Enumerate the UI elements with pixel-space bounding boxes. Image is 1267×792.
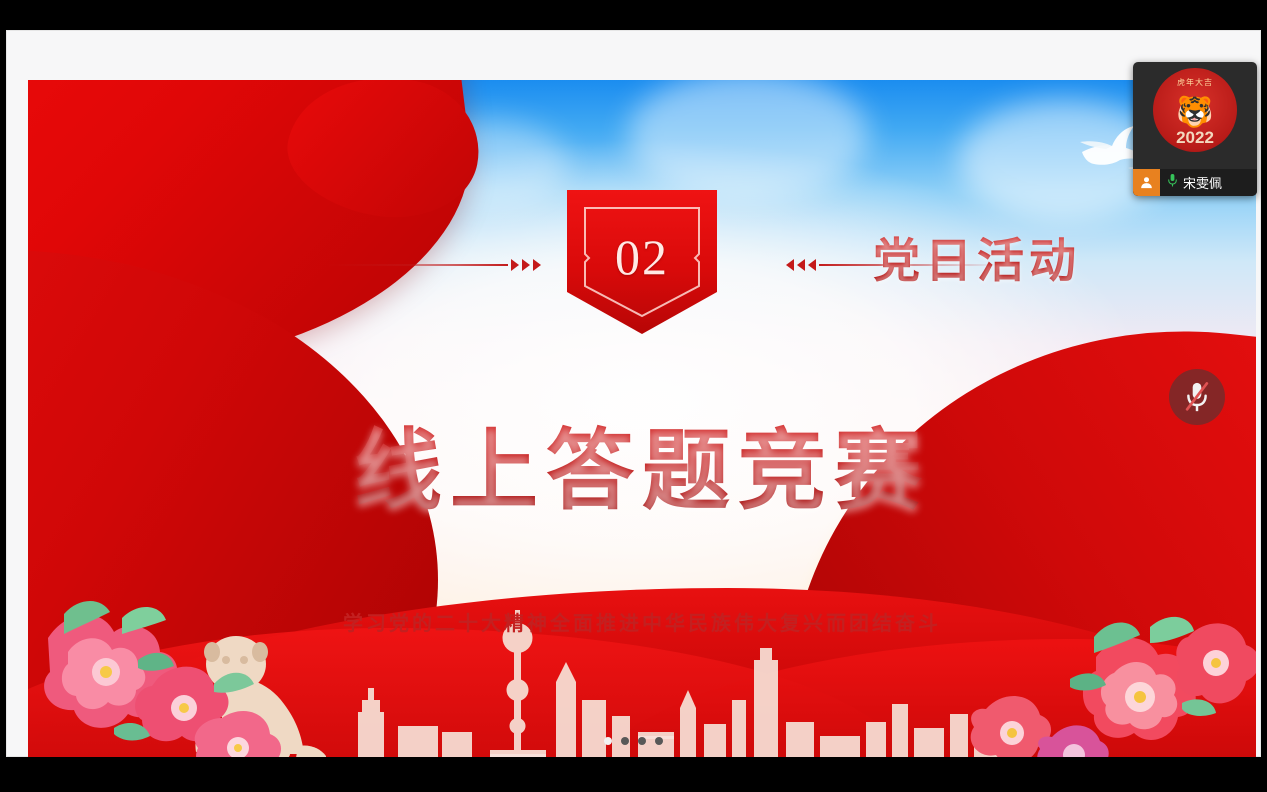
slide-content: 02 党日活动 线上答题竞赛 学习党的二十大精神全面推进中华民族 (28, 80, 1256, 778)
microphone-muted-icon (1182, 381, 1212, 413)
avatar: 虎年大吉 🐯 2022 (1153, 68, 1237, 152)
section-number-badge: 02 (561, 188, 723, 336)
screen-share-viewer: 02 党日活动 线上答题竞赛 学习党的二十大精神全面推进中华民族 (0, 0, 1267, 792)
arrow-left-icon (797, 259, 805, 271)
avatar-year: 2022 (1153, 128, 1237, 148)
pager-dot-3[interactable] (638, 737, 646, 745)
mute-microphone-button[interactable] (1169, 369, 1225, 425)
arrow-left-icon (786, 259, 794, 271)
tiger-icon: 🐯 (1176, 98, 1213, 128)
decor-line-left (328, 258, 541, 272)
arrow-right-icon (533, 259, 541, 271)
microphone-icon (1166, 173, 1179, 193)
badge-number: 02 (561, 228, 723, 286)
avatar-top-mark: 虎年大吉 (1153, 77, 1237, 88)
participant-thumbnail[interactable]: 虎年大吉 🐯 2022 宋雯佩 (1133, 62, 1257, 196)
shared-document-page: 02 党日活动 线上答题竞赛 学习党的二十大精神全面推进中华民族 (6, 30, 1261, 757)
slide-subtitle: 学习党的二十大精神全面推进中华民族伟大复兴而团结奋斗 (28, 607, 1256, 636)
letterbox-top (0, 0, 1267, 30)
arrow-left-icon (808, 259, 816, 271)
slide-kicker: 党日活动 (873, 222, 1081, 291)
letterbox-bottom (0, 757, 1267, 792)
letterbox-left (0, 0, 6, 792)
pager-dot-4[interactable] (655, 737, 663, 745)
decor-rule (328, 264, 508, 266)
pager-dot-2[interactable] (621, 737, 629, 745)
participant-name-bar: 宋雯佩 (1133, 169, 1257, 196)
slide-pager[interactable] (6, 737, 1261, 745)
arrow-right-icon (511, 259, 519, 271)
pager-dot-1[interactable] (604, 737, 612, 745)
person-icon (1133, 169, 1160, 196)
participant-name: 宋雯佩 (1183, 173, 1222, 192)
slide-title: 线上答题竞赛 (28, 400, 1256, 527)
arrow-right-icon (522, 259, 530, 271)
presentation-slide: 02 党日活动 线上答题竞赛 学习党的二十大精神全面推进中华民族 (28, 80, 1256, 778)
